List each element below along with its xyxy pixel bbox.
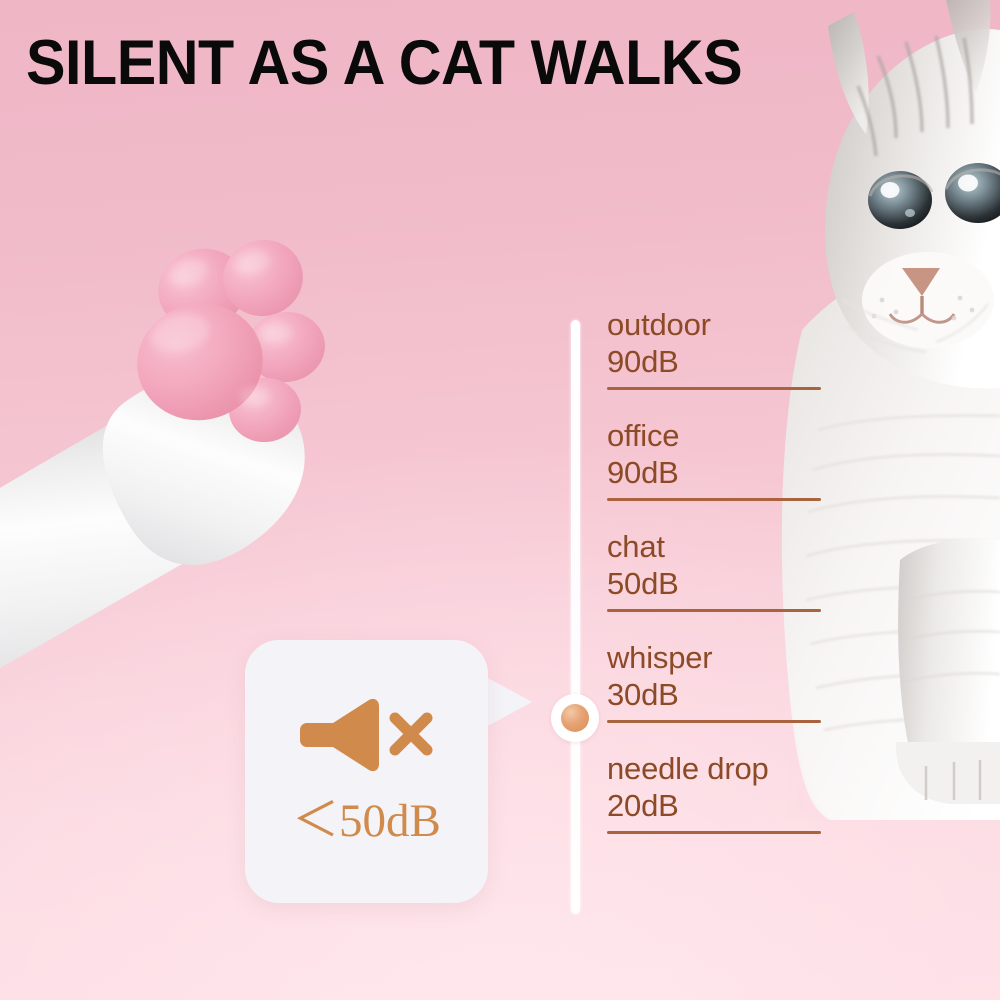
noise-level-list: outdoor 90dB office 90dB chat 50dB whisp… — [607, 306, 823, 834]
marker-dot — [561, 704, 589, 732]
spacer — [607, 612, 823, 639]
level-label: office — [607, 417, 823, 454]
speaker-mute-icon — [299, 698, 434, 772]
noise-level-track[interactable] — [571, 320, 580, 914]
level-value: 20dB — [607, 787, 823, 824]
divider — [607, 831, 821, 834]
divider — [607, 498, 821, 501]
list-item[interactable]: needle drop 20dB — [607, 750, 823, 834]
list-item[interactable]: office 90dB — [607, 417, 823, 501]
divider — [607, 387, 821, 390]
level-value: 90dB — [607, 454, 823, 491]
spacer — [607, 501, 823, 528]
page-title: SILENT AS A CAT WALKS — [26, 32, 742, 95]
speech-bubble-tail — [484, 672, 544, 732]
mute-callout-card: ＜50dB — [245, 640, 488, 903]
list-item[interactable]: whisper 30dB — [607, 639, 823, 723]
divider — [607, 720, 821, 723]
list-item[interactable]: chat 50dB — [607, 528, 823, 612]
divider — [607, 609, 821, 612]
max-db-label: ＜50dB — [292, 798, 441, 845]
level-label: needle drop — [607, 750, 823, 787]
level-label: chat — [607, 528, 823, 565]
level-value: 50dB — [607, 565, 823, 602]
poster-canvas: outdoor 90dB office 90dB chat 50dB whisp… — [0, 0, 1000, 1000]
level-value: 90dB — [607, 343, 823, 380]
spacer — [607, 723, 823, 750]
whisper-marker[interactable] — [551, 694, 599, 742]
list-item[interactable]: outdoor 90dB — [607, 306, 823, 390]
spacer — [607, 390, 823, 417]
level-label: whisper — [607, 639, 823, 676]
level-value: 30dB — [607, 676, 823, 713]
level-label: outdoor — [607, 306, 823, 343]
